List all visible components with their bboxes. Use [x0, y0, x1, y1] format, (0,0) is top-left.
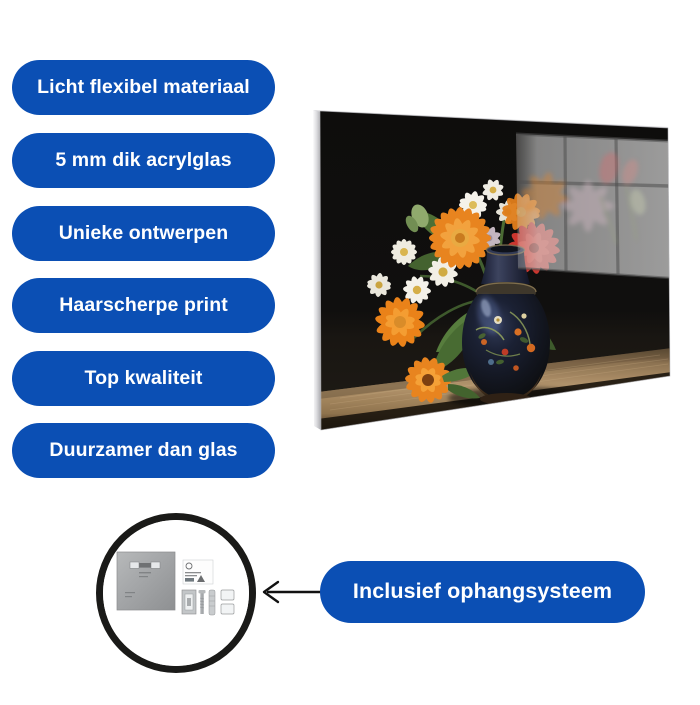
feature-badge-4[interactable]: Haarscherpe print [12, 278, 275, 333]
product-feature-graphic: Licht flexibel materiaal 5 mm dik acrylg… [0, 0, 700, 700]
feature-badge-1-label: Licht flexibel materiaal [37, 78, 250, 98]
instruction-sheet [183, 560, 213, 584]
hanging-kit-photo [103, 520, 249, 666]
mounting-plate [117, 552, 175, 610]
feature-badge-1[interactable]: Licht flexibel materiaal [12, 60, 275, 115]
feature-badge-3[interactable]: Unieke ontwerpen [12, 206, 275, 261]
feature-badge-3-label: Unieke ontwerpen [59, 224, 229, 244]
feature-badge-5[interactable]: Top kwaliteit [12, 351, 275, 406]
feature-badge-5-label: Top kwaliteit [85, 369, 203, 389]
hanging-system-badge-label: Inclusief ophangsysteem [353, 581, 612, 603]
feature-badge-6[interactable]: Duurzamer dan glas [12, 423, 275, 478]
feature-badge-2-label: 5 mm dik acrylglas [55, 151, 231, 171]
hanging-system-badge[interactable]: Inclusief ophangsysteem [320, 561, 645, 623]
artwork-image [310, 100, 680, 440]
feature-badge-6-label: Duurzamer dan glas [49, 441, 237, 461]
feature-badge-2[interactable]: 5 mm dik acrylglas [12, 133, 275, 188]
feature-badge-4-label: Haarscherpe print [59, 296, 228, 316]
hanging-kit-circle [96, 513, 256, 673]
